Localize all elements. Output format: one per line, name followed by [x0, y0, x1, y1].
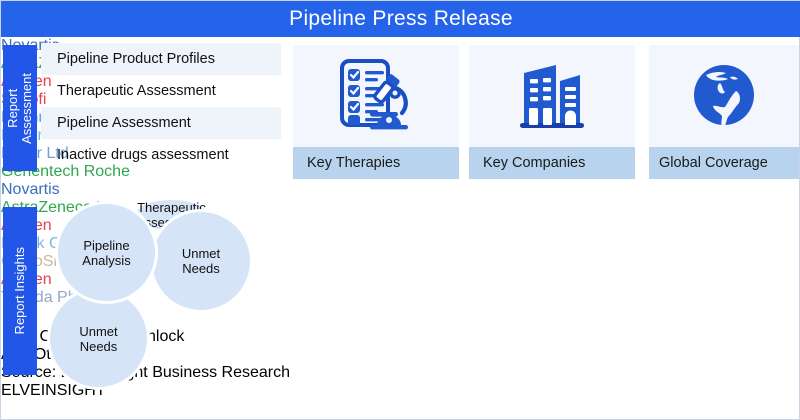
feature-card-key-companies[interactable]: Key Companies	[469, 45, 635, 179]
venn-circle-unmet-needs-top[interactable]: Unmet Needs	[149, 209, 253, 313]
list-item[interactable]: Pipeline Assessment	[41, 107, 281, 139]
feature-card-global-coverage-label: Global Coverage	[649, 147, 799, 179]
press-release-slide: Pipeline Press Release Report Assessment…	[0, 0, 800, 420]
list-item-label: Inactive drugs assessment	[57, 147, 229, 163]
sidebar-tab-report-assessment-label: Report Assessment	[6, 73, 34, 144]
sidebar-tab-report-insights-label: Report Insights	[13, 247, 27, 334]
feature-card-key-therapies[interactable]: Key Therapies	[293, 45, 459, 179]
feature-card-key-therapies-label: Key Therapies	[293, 147, 459, 179]
list-item-label: Pipeline Product Profiles	[57, 51, 215, 67]
globe-icon	[649, 45, 799, 147]
office-buildings-icon	[469, 45, 635, 147]
report-insights-venn: Pipeline Analysis Unmet Needs Unmet Need…	[45, 197, 280, 387]
feature-card-global-coverage[interactable]: Global Coverage	[649, 45, 799, 179]
feature-card-key-companies-label: Key Companies	[469, 147, 635, 179]
venn-circle-label: Unmet Needs	[182, 246, 220, 276]
list-item-label: Therapeutic Assessment	[57, 83, 216, 99]
clipboard-microscope-icon	[293, 45, 459, 147]
list-item[interactable]: Therapeutic Assessment	[41, 75, 281, 107]
report-assessment-list: Pipeline Product Profiles Therapeutic As…	[41, 43, 281, 173]
list-item[interactable]: Inactive drugs assessment	[41, 139, 281, 171]
list-item[interactable]: Pipeline Product Profiles	[41, 43, 281, 75]
sidebar-tab-report-assessment[interactable]: Report Assessment	[3, 45, 37, 171]
venn-circle-label: Pipeline Analysis	[82, 238, 130, 268]
venn-circle-label: Unmet Needs	[79, 324, 117, 354]
sidebar-tab-report-insights[interactable]: Report Insights	[3, 207, 37, 375]
list-item-label: Pipeline Assessment	[57, 115, 191, 131]
header-bar: Pipeline Press Release	[1, 1, 800, 37]
venn-circle-pipeline-analysis[interactable]: Pipeline Analysis	[55, 201, 158, 304]
page-title: Pipeline Press Release	[289, 7, 513, 31]
